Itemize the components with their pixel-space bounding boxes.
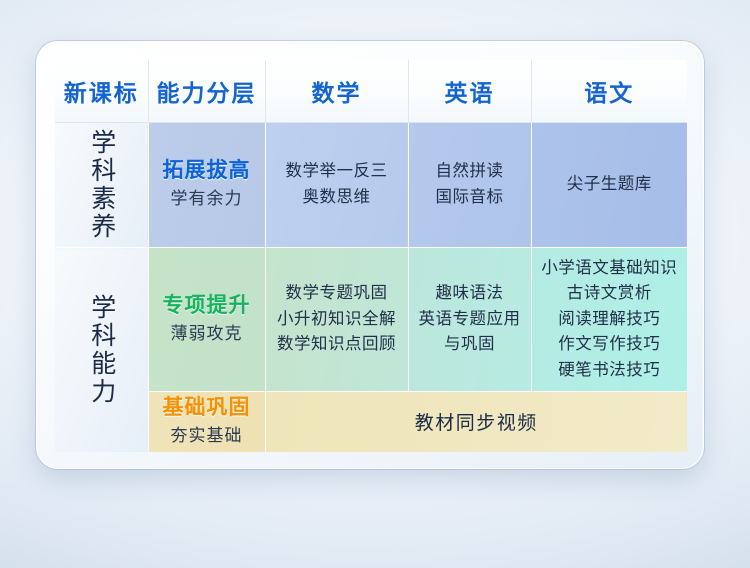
cell-line: 小学语文基础知识 bbox=[532, 256, 688, 282]
content-card: 新课标 能力分层 数学 英语 语文 学科素养 拓展拔高 学有余力 数学举一反三奥… bbox=[36, 41, 704, 469]
header-cell-tier: 能力分层 bbox=[148, 60, 265, 122]
cell-line: 趣味语法 bbox=[409, 281, 531, 307]
cell-line: 自然拼读 bbox=[409, 159, 531, 185]
cell-boost-chinese: 小学语文基础知识古诗文赏析阅读理解技巧作文写作技巧硬笔书法技巧 bbox=[531, 248, 687, 392]
curriculum-matrix: 新课标 能力分层 数学 英语 语文 学科素养 拓展拔高 学有余力 数学举一反三奥… bbox=[55, 60, 687, 452]
cell-line: 古诗文赏析 bbox=[532, 281, 688, 307]
cell-boost-english: 趣味语法英语专题应用与巩固 bbox=[408, 248, 531, 392]
cell-line: 小升初知识全解 bbox=[266, 307, 408, 333]
cell-line: 与巩固 bbox=[409, 332, 531, 358]
cell-boost-chinese-lines: 小学语文基础知识古诗文赏析阅读理解技巧作文写作技巧硬笔书法技巧 bbox=[532, 256, 688, 384]
header-cell-english: 英语 bbox=[408, 60, 531, 122]
tier-sub-base: 夯实基础 bbox=[149, 424, 265, 449]
table-row: 学科素养 拓展拔高 学有余力 数学举一反三奥数思维 自然拼读国际音标 尖子生题库 bbox=[55, 122, 687, 248]
table-row: 学科能力 专项提升 薄弱攻克 数学专题巩固小升初知识全解数学知识点回顾 趣味语法… bbox=[55, 248, 687, 392]
cell-base-all-subjects: 教材同步视频 bbox=[265, 391, 687, 452]
cell-expand-chinese: 尖子生题库 bbox=[531, 122, 687, 248]
cell-boost-math: 数学专题巩固小升初知识全解数学知识点回顾 bbox=[265, 248, 408, 392]
cell-boost-math-lines: 数学专题巩固小升初知识全解数学知识点回顾 bbox=[266, 281, 408, 358]
cell-expand-math-lines: 数学举一反三奥数思维 bbox=[266, 159, 408, 210]
cell-line: 尖子生题库 bbox=[532, 172, 688, 198]
tier-cell-boost: 专项提升 薄弱攻克 bbox=[148, 248, 265, 392]
cell-expand-math: 数学举一反三奥数思维 bbox=[265, 122, 408, 248]
cell-expand-english-lines: 自然拼读国际音标 bbox=[409, 159, 531, 210]
tier-cell-base: 基础巩固 夯实基础 bbox=[148, 391, 265, 452]
tier-title-base: 基础巩固 bbox=[149, 395, 265, 421]
row-label-literacy: 学科素养 bbox=[55, 122, 148, 248]
tier-cell-expand: 拓展拔高 学有余力 bbox=[148, 122, 265, 248]
row-label-ability-text: 学科能力 bbox=[87, 294, 116, 406]
tier-sub-expand: 学有余力 bbox=[149, 187, 265, 212]
cell-line: 奥数思维 bbox=[266, 185, 408, 211]
tier-sub-boost: 薄弱攻克 bbox=[149, 322, 265, 347]
cell-line: 作文写作技巧 bbox=[532, 332, 688, 358]
table-header-row: 新课标 能力分层 数学 英语 语文 bbox=[55, 60, 687, 122]
row-label-literacy-text: 学科素养 bbox=[87, 129, 116, 241]
cell-line: 阅读理解技巧 bbox=[532, 307, 688, 333]
tier-title-boost: 专项提升 bbox=[149, 293, 265, 319]
matrix-table: 新课标 能力分层 数学 英语 语文 学科素养 拓展拔高 学有余力 数学举一反三奥… bbox=[55, 60, 687, 452]
table-row: 基础巩固 夯实基础 教材同步视频 bbox=[55, 391, 687, 452]
cell-expand-english: 自然拼读国际音标 bbox=[408, 122, 531, 248]
header-cell-standard: 新课标 bbox=[55, 60, 148, 122]
row-label-ability: 学科能力 bbox=[55, 248, 148, 452]
cell-line: 硬笔书法技巧 bbox=[532, 358, 688, 384]
cell-line: 数学举一反三 bbox=[266, 159, 408, 185]
tier-title-expand: 拓展拔高 bbox=[149, 158, 265, 184]
cell-boost-english-lines: 趣味语法英语专题应用与巩固 bbox=[409, 281, 531, 358]
cell-line: 国际音标 bbox=[409, 185, 531, 211]
cell-line: 数学知识点回顾 bbox=[266, 332, 408, 358]
cell-line: 英语专题应用 bbox=[409, 307, 531, 333]
header-cell-chinese: 语文 bbox=[531, 60, 687, 122]
cell-expand-chinese-lines: 尖子生题库 bbox=[532, 172, 688, 198]
header-cell-math: 数学 bbox=[265, 60, 408, 122]
cell-line: 数学专题巩固 bbox=[266, 281, 408, 307]
